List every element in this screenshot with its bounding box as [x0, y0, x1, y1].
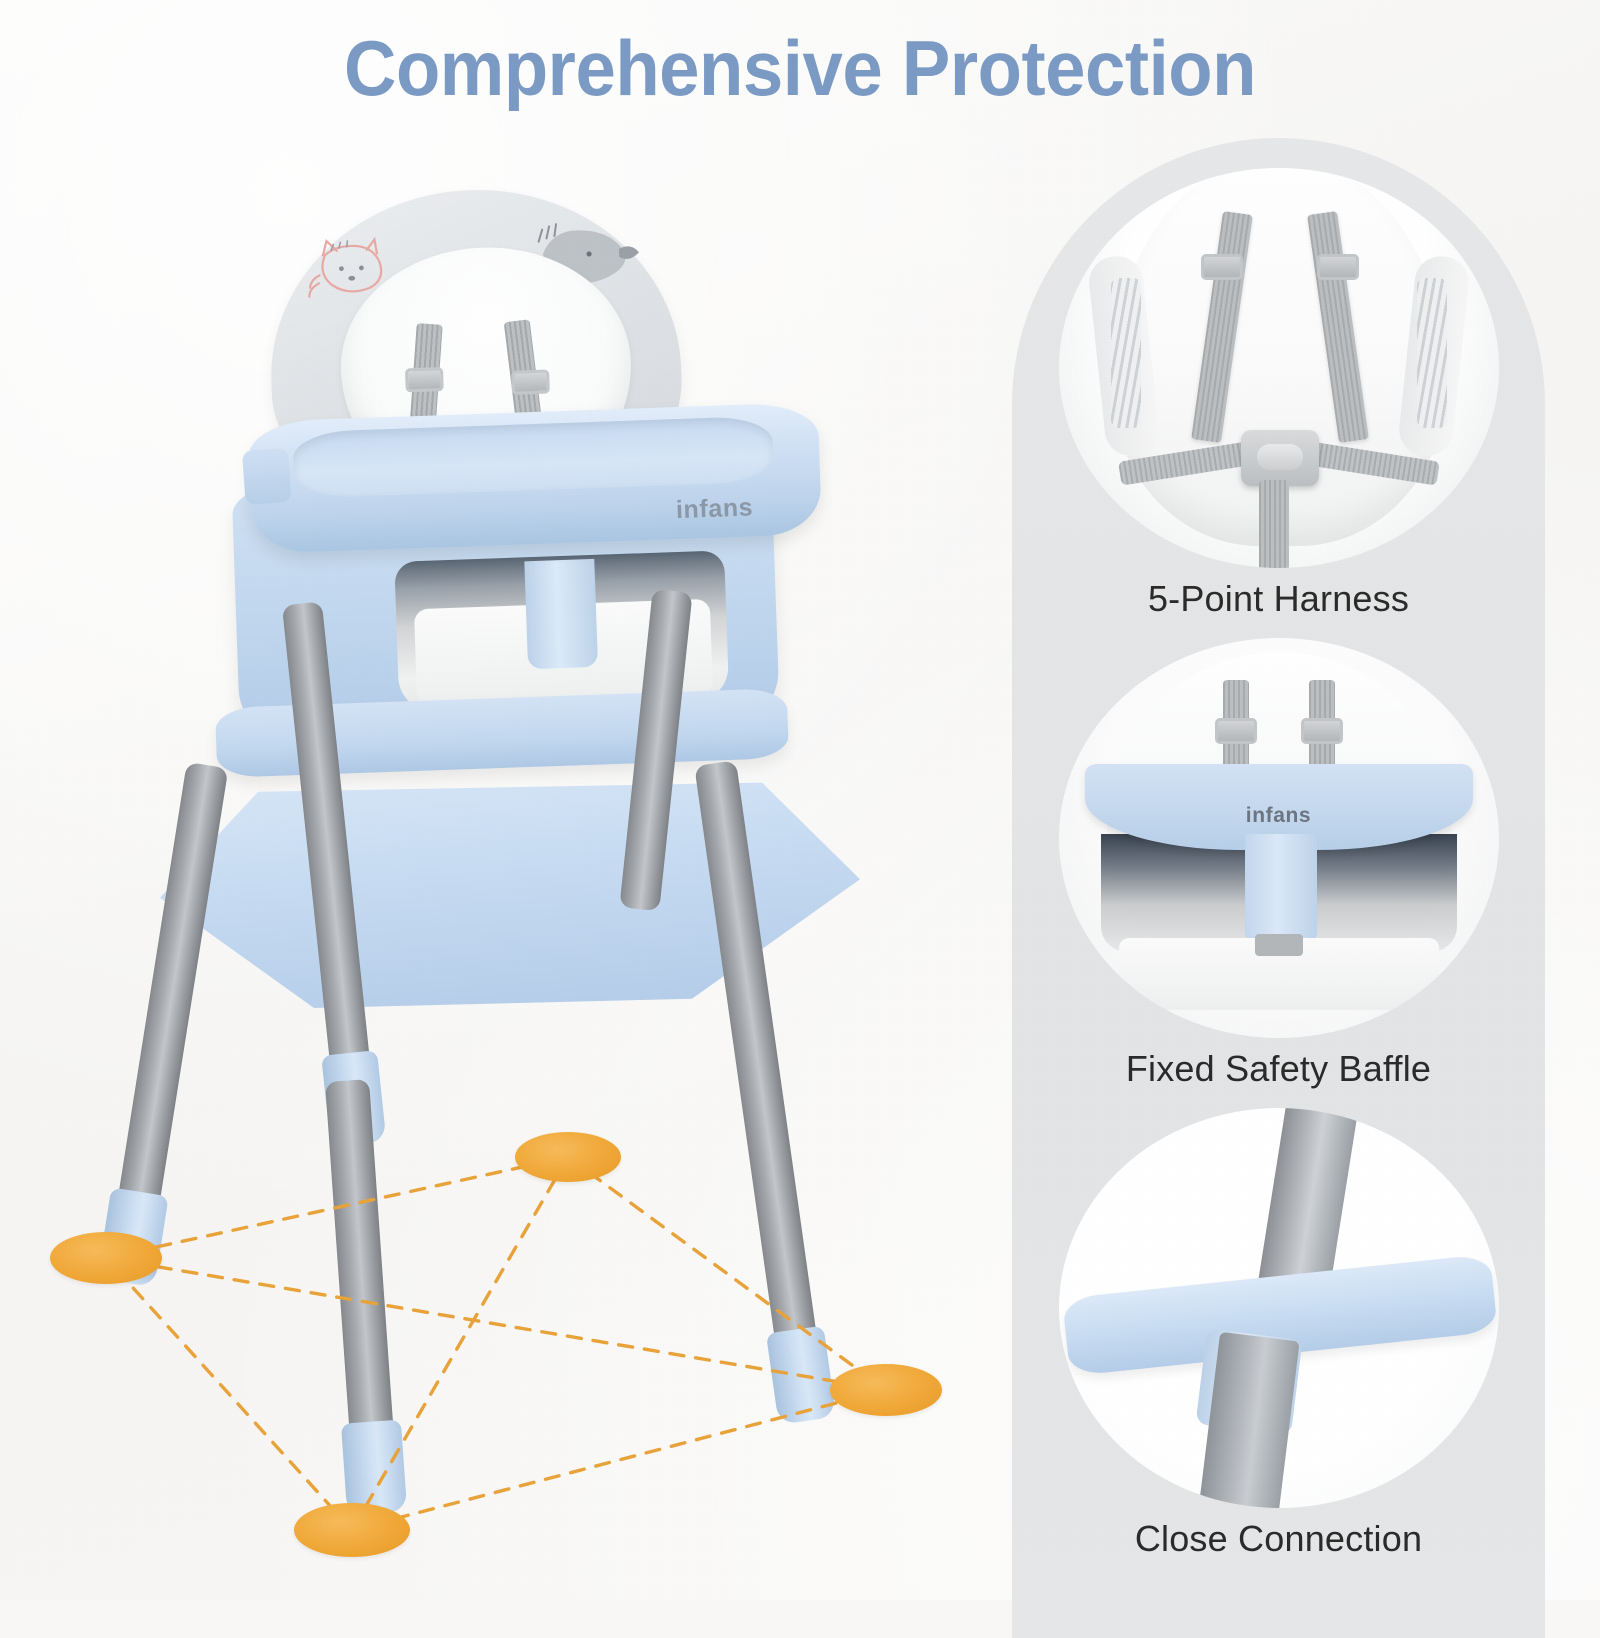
leg-center-front — [325, 1079, 399, 1511]
feature-baffle[interactable]: infans Fixed Safety Baffle — [1012, 638, 1545, 1090]
page-title: Comprehensive Protection — [56, 28, 1544, 110]
feature-caption-baffle: Fixed Safety Baffle — [1012, 1048, 1545, 1090]
closeup-adjuster-left — [1215, 718, 1257, 744]
closeup-adjuster-right — [1301, 718, 1343, 744]
baffle-closeup-image: infans — [1059, 638, 1499, 1038]
leg-foot-cap — [766, 1326, 836, 1425]
feature-connection[interactable]: Close Connection — [1012, 1108, 1545, 1560]
harness-closeup-image — [1059, 168, 1499, 568]
fabric-print-left — [1111, 278, 1141, 428]
tray-release-tab — [242, 448, 292, 505]
feature-caption-harness: 5-Point Harness — [1012, 578, 1545, 620]
feeding-tray: infans — [248, 402, 822, 554]
leg-foot-cap — [341, 1420, 407, 1516]
leg-foot-cap — [97, 1187, 169, 1287]
product-hero-image: infans — [40, 150, 960, 1600]
baffle-center-post — [1245, 834, 1317, 946]
harness-adjuster-left — [1201, 254, 1243, 280]
baffle-cavity-left — [1101, 834, 1251, 952]
feature-harness[interactable]: 5-Point Harness — [1012, 168, 1545, 620]
feature-panel: 5-Point Harness infans Fixed Safety Baff… — [1012, 138, 1545, 1638]
brand-logo-baffle: infans — [1085, 804, 1473, 828]
fabric-print-right — [1417, 278, 1447, 428]
crotch-post — [524, 559, 598, 669]
baffle-cavity-right — [1307, 834, 1457, 952]
tray-recess — [292, 416, 774, 499]
harness-crotch-strap — [1259, 480, 1289, 568]
harness-adjuster-right — [1317, 254, 1359, 280]
strap-adjuster-right — [511, 369, 550, 394]
connection-closeup-image — [1059, 1108, 1499, 1508]
brand-logo-tray: infans — [675, 493, 753, 525]
baffle-crotch-strap — [1255, 934, 1303, 956]
feature-caption-connection: Close Connection — [1012, 1518, 1545, 1560]
strap-adjuster-left — [405, 367, 444, 392]
harness-center-buckle — [1241, 430, 1319, 486]
